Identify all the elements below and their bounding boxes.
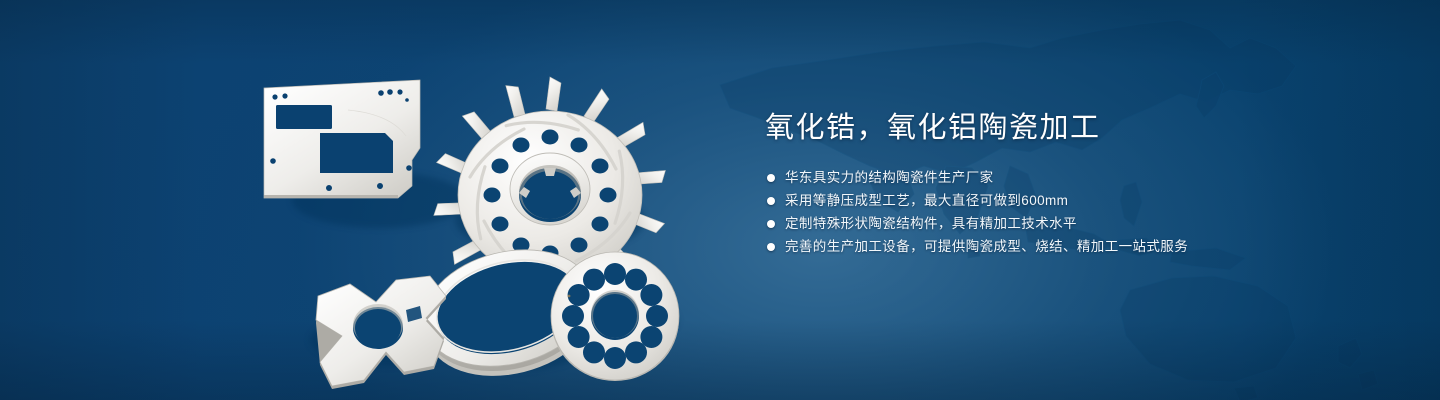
ceramic-perforated-disc-part [551, 252, 679, 381]
bullet-dot-icon [767, 220, 775, 228]
bullet-dot-icon [767, 174, 775, 182]
feature-text: 华东具实力的结构陶瓷件生产厂家 [785, 166, 994, 189]
banner-copy: 氧化锆，氧化铝陶瓷加工 华东具实力的结构陶瓷件生产厂家 采用等静压成型工艺，最大… [765, 108, 1325, 258]
feature-text: 采用等静压成型工艺，最大直径可做到600mm [785, 189, 1068, 212]
list-item: 华东具实力的结构陶瓷件生产厂家 [767, 166, 1325, 189]
feature-text: 完善的生产加工设备，可提供陶瓷成型、烧结、精加工一站式服务 [785, 235, 1188, 258]
ceramic-star-plate-part [316, 276, 446, 389]
ceramic-products-image [240, 40, 710, 380]
list-item: 定制特殊形状陶瓷结构件，具有精加工技术水平 [767, 212, 1325, 235]
ceramic-processing-banner: 氧化锆，氧化铝陶瓷加工 华东具实力的结构陶瓷件生产厂家 采用等静压成型工艺，最大… [0, 0, 1440, 400]
bullet-dot-icon [767, 243, 775, 251]
list-item: 采用等静压成型工艺，最大直径可做到600mm [767, 189, 1325, 212]
bullet-dot-icon [767, 197, 775, 205]
feature-text: 定制特殊形状陶瓷结构件，具有精加工技术水平 [785, 212, 1077, 235]
ceramic-plate-part [264, 80, 420, 198]
page-title: 氧化锆，氧化铝陶瓷加工 [765, 108, 1325, 148]
feature-list: 华东具实力的结构陶瓷件生产厂家 采用等静压成型工艺，最大直径可做到600mm 定… [767, 166, 1325, 258]
list-item: 完善的生产加工设备，可提供陶瓷成型、烧结、精加工一站式服务 [767, 235, 1325, 258]
